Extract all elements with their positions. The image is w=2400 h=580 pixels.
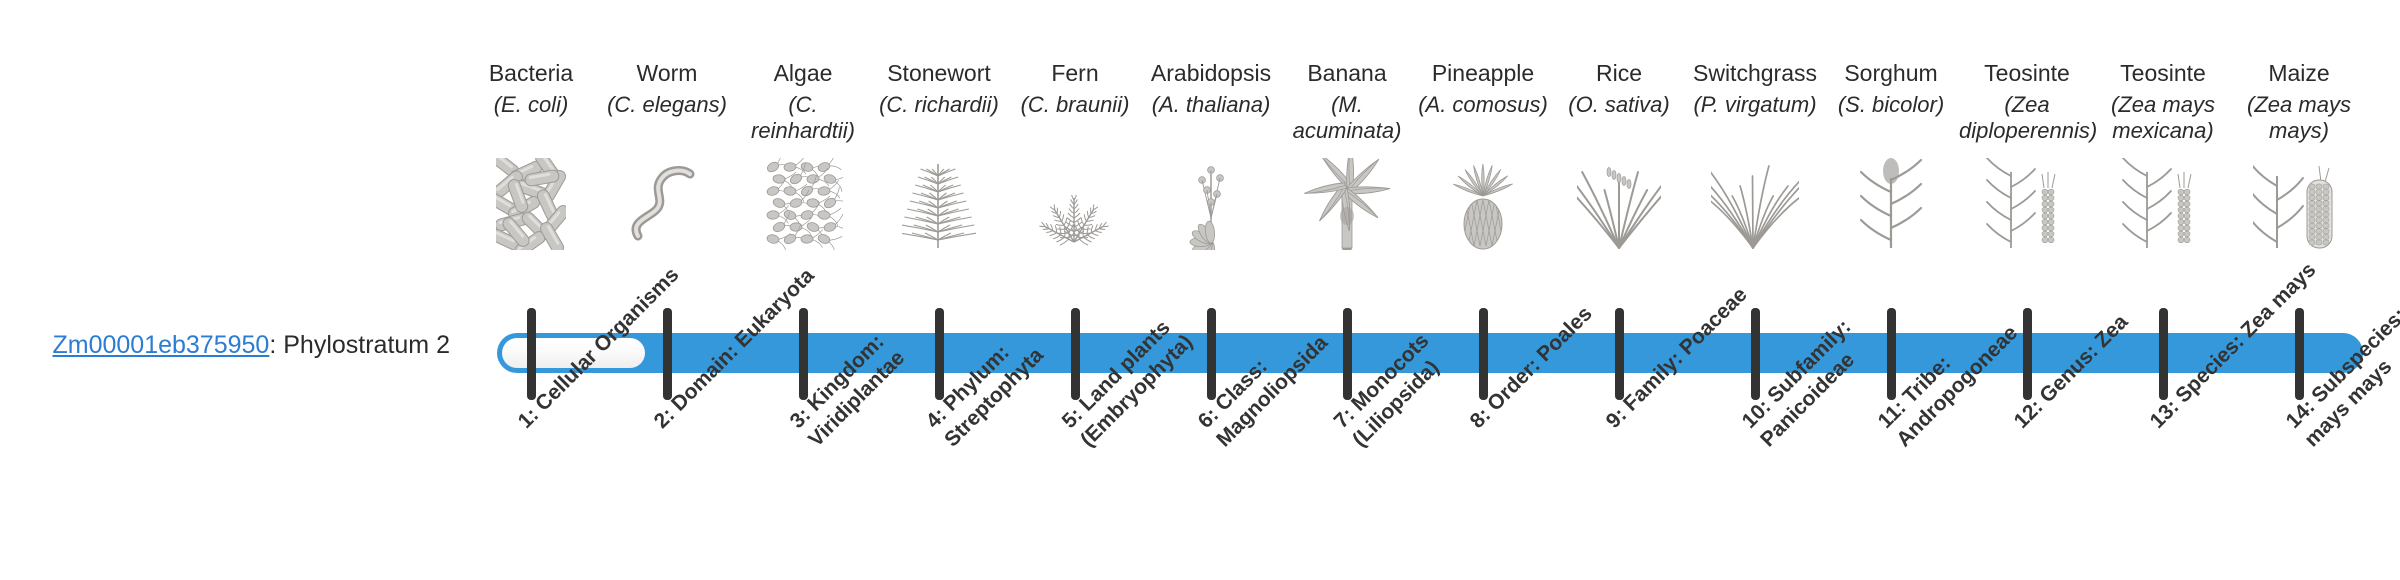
rice-illustration xyxy=(1551,158,1687,250)
sorghum-illustration xyxy=(1823,158,1959,250)
stonewort-illustration xyxy=(871,158,1007,250)
tick-mark xyxy=(1751,308,1760,400)
species-common-name: Teosinte xyxy=(2095,60,2231,87)
maize-illustration xyxy=(2231,158,2367,250)
species-common-name: Algae xyxy=(735,60,871,87)
species-latin-name: (P. virgatum) xyxy=(1687,92,1823,118)
tick-mark xyxy=(527,308,536,400)
species-common-name: Worm xyxy=(599,60,735,87)
species-common-name: Bacteria xyxy=(463,60,599,87)
gene-id-separator: : xyxy=(269,331,283,359)
teosinte-diploperennis-illustration xyxy=(1959,158,2095,250)
banana-illustration xyxy=(1279,158,1415,250)
species-common-name: Sorghum xyxy=(1823,60,1959,87)
species-common-name: Pineapple xyxy=(1415,60,1551,87)
species-latin-name: (C. reinhardtii) xyxy=(735,92,871,144)
bacteria-illustration xyxy=(463,158,599,250)
species-latin-name: (O. sativa) xyxy=(1551,92,1687,118)
arabidopsis-illustration xyxy=(1143,158,1279,250)
species-latin-name: (A. comosus) xyxy=(1415,92,1551,118)
species-column: Bacteria(E. coli) xyxy=(463,0,599,310)
tick-mark xyxy=(663,308,672,400)
pineapple-illustration xyxy=(1415,158,1551,250)
species-latin-name: (Zea diploperennis) xyxy=(1959,92,2095,144)
species-common-name: Fern xyxy=(1007,60,1143,87)
tick-mark xyxy=(1615,308,1624,400)
species-common-name: Maize xyxy=(2231,60,2367,87)
species-latin-name: (E. coli) xyxy=(463,92,599,118)
gene-label: Zm00001eb375950: Phylostratum 2 xyxy=(30,330,450,360)
species-latin-name: (Zea mays mays) xyxy=(2231,92,2367,144)
species-common-name: Rice xyxy=(1551,60,1687,87)
species-latin-name: (M. acuminata) xyxy=(1279,92,1415,144)
species-latin-name: (Zea mays mexicana) xyxy=(2095,92,2231,144)
tick-mark xyxy=(799,308,808,400)
phylostratum-text: Phylostratum 2 xyxy=(283,331,450,359)
species-common-name: Teosinte xyxy=(1959,60,2095,87)
switchgrass-illustration xyxy=(1687,158,1823,250)
species-common-name: Arabidopsis xyxy=(1143,60,1279,87)
gene-id-link[interactable]: Zm00001eb375950 xyxy=(52,331,269,359)
species-latin-name: (A. thaliana) xyxy=(1143,92,1279,118)
worm-illustration xyxy=(599,158,735,250)
tick-mark xyxy=(2295,308,2304,400)
species-latin-name: (C. richardii) xyxy=(871,92,1007,118)
species-common-name: Banana xyxy=(1279,60,1415,87)
algae-illustration xyxy=(735,158,871,250)
species-common-name: Stonewort xyxy=(871,60,1007,87)
fern-illustration xyxy=(1007,158,1143,250)
species-latin-name: (C. braunii) xyxy=(1007,92,1143,118)
species-common-name: Switchgrass xyxy=(1687,60,1823,87)
species-latin-name: (C. elegans) xyxy=(599,92,735,118)
teosinte-mexicana-illustration xyxy=(2095,158,2231,250)
phylostratigraphy-figure: Zm00001eb375950: Phylostratum 2 Bacteria… xyxy=(0,0,2400,580)
species-latin-name: (S. bicolor) xyxy=(1823,92,1959,118)
tick-mark xyxy=(2159,308,2168,400)
